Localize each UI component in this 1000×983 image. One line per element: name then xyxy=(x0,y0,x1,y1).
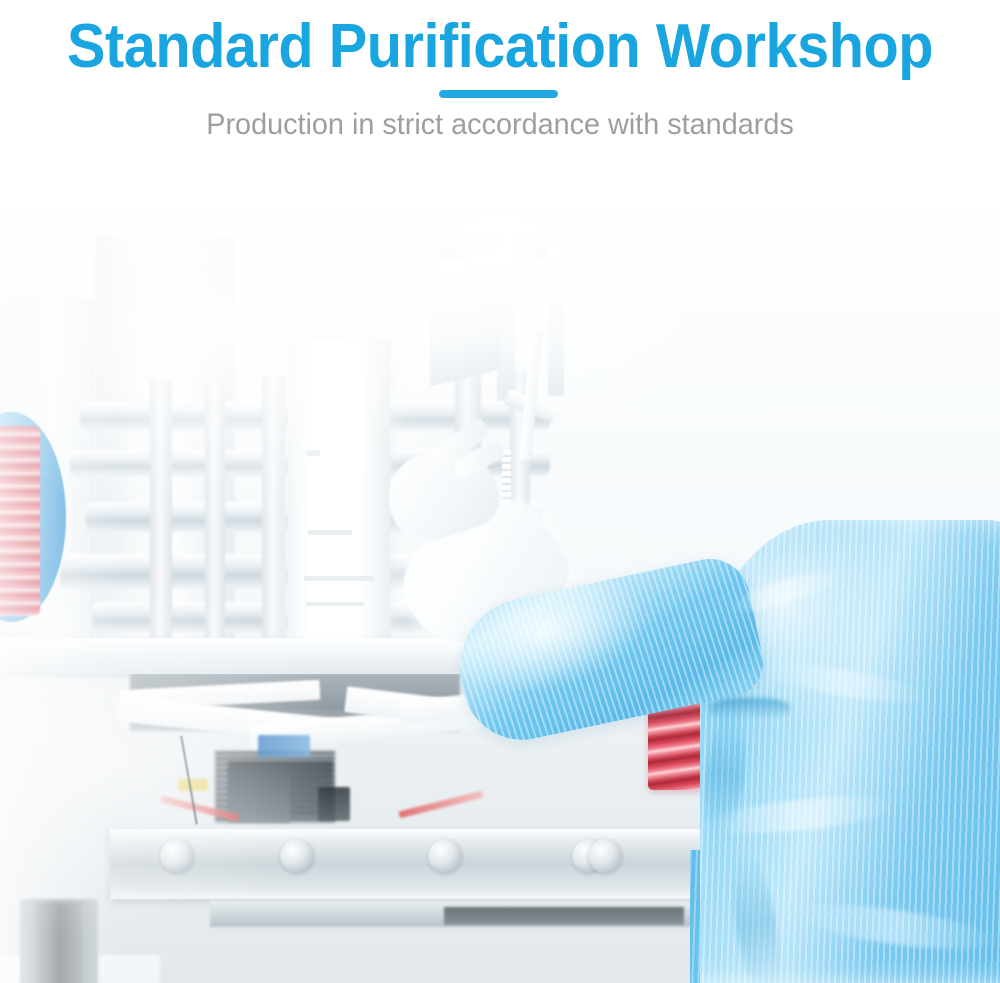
page-subtitle: Production in strict accordance with sta… xyxy=(20,108,980,142)
machine-bolt xyxy=(588,839,622,873)
workshop-photo xyxy=(0,150,1000,983)
machine-sensor-block xyxy=(318,787,350,821)
worker-suit-collar xyxy=(710,698,790,720)
machine-bolt xyxy=(160,839,194,873)
machine-pillar xyxy=(205,382,225,658)
machine-yellow-label xyxy=(178,779,208,791)
machine-shadow-bar xyxy=(444,907,684,925)
machine-bolt xyxy=(428,839,462,873)
machine-pillar xyxy=(150,380,172,660)
machine-gantry-bracket xyxy=(430,249,500,386)
machine-leg xyxy=(36,903,82,983)
machine-bolt xyxy=(280,839,314,873)
page-title: Standard Purification Workshop xyxy=(35,16,965,78)
title-underline-rule xyxy=(439,90,558,98)
promo-banner: Standard Purification Workshop Productio… xyxy=(0,0,1000,983)
machine-gantry-post xyxy=(548,246,564,396)
coil-spring-left xyxy=(0,426,40,616)
product-sheet xyxy=(288,340,390,670)
worker-head xyxy=(700,325,1000,625)
banner-header: Standard Purification Workshop Productio… xyxy=(0,0,1000,155)
machine-blue-label xyxy=(258,735,310,757)
machine-pillar xyxy=(262,376,286,664)
